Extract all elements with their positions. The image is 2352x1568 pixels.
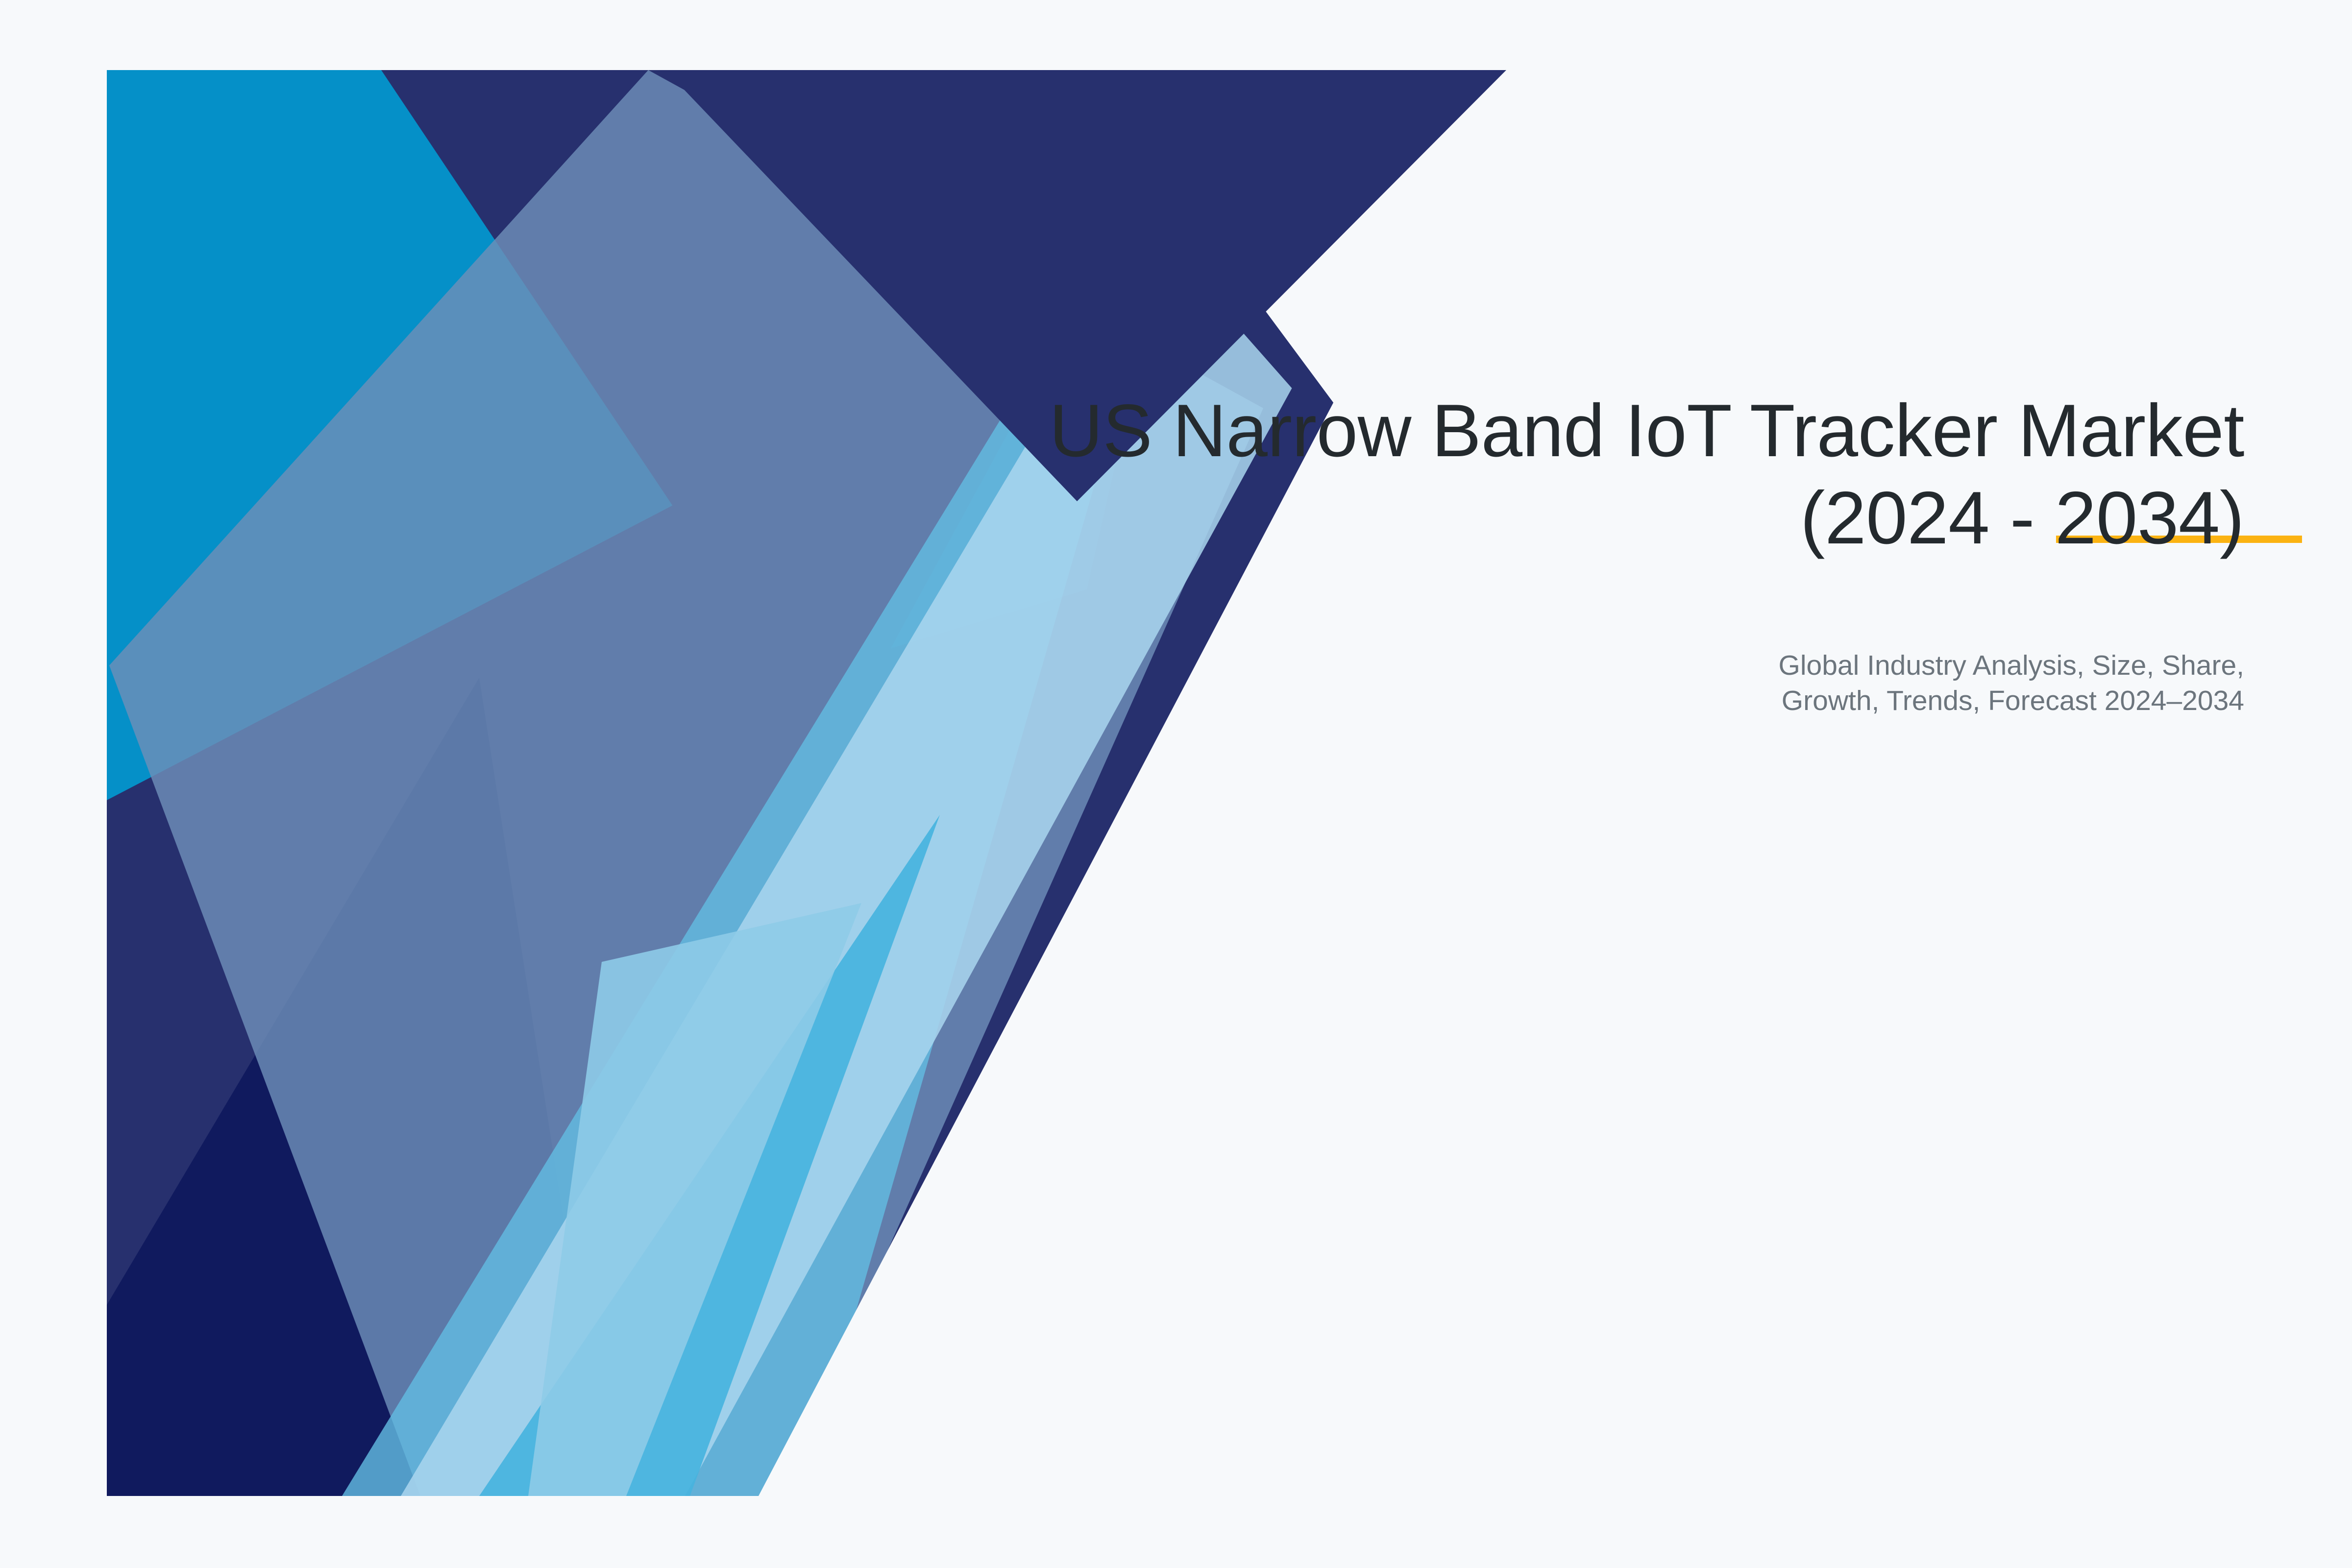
abstract-geometric-cover-graphic — [107, 70, 1508, 1496]
title-line-2: (2024 - 2034) — [1800, 476, 2244, 560]
subtitle-line-2: Growth, Trends, Forecast 2024–2034 — [1421, 683, 2244, 718]
subtitle-line-1: Global Industry Analysis, Size, Share, — [1421, 648, 2244, 683]
page-title: US Narrow Band IoT Tracker Market (2024 … — [784, 387, 2244, 562]
artwork-svg — [107, 70, 1508, 1496]
page-subtitle: Global Industry Analysis, Size, Share, G… — [1421, 648, 2244, 718]
report-cover-page: US Narrow Band IoT Tracker Market (2024 … — [0, 0, 2352, 1568]
title-line-2-container: (2024 - 2034) — [1800, 474, 2244, 562]
title-line-1: US Narrow Band IoT Tracker Market — [784, 387, 2244, 474]
